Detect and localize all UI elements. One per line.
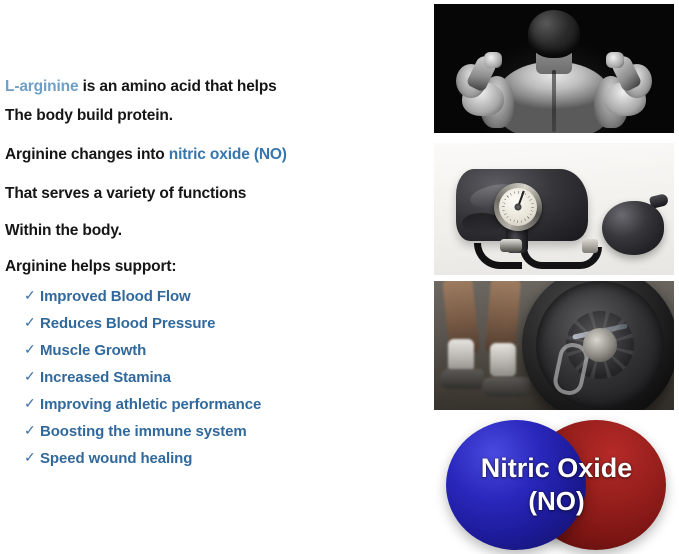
paragraph-line-4-text: That serves a variety of functions [5,185,246,202]
check-icon: ✓ [24,396,40,410]
barbell-weight-plate-photo [434,281,674,410]
list-item: ✓ Increased Stamina [24,369,261,396]
list-item: ✓ Boosting the immune system [24,423,261,450]
inflation-bulb [602,201,664,255]
list-item: ✓ Reduces Blood Pressure [24,315,261,342]
list-item-label: Boosting the immune system [40,423,247,440]
nitric-oxide-line-2: (NO) [528,486,584,517]
check-icon: ✓ [24,342,40,356]
paragraph-line-5: Within the body. [5,222,122,240]
paragraph-line-6: Arginine helps support: [5,258,176,276]
list-item-label: Reduces Blood Pressure [40,315,215,332]
weight-plate-hub [583,328,617,362]
image-column: Nitric Oxide (NO) [434,0,679,554]
check-icon: ✓ [24,315,40,329]
infographic-slide: L-arginine is an amino acid that helps T… [0,0,679,554]
paragraph-line-1-rest: is an amino acid that helps [78,78,276,95]
paragraph-line-5-text: Within the body. [5,222,122,239]
list-item: ✓ Improved Blood Flow [24,288,261,315]
nitric-oxide-line-1: Nitric Oxide [481,453,633,484]
head [528,10,580,58]
paragraph-line-1: L-arginine is an amino acid that helps [5,78,277,96]
list-item-label: Improved Blood Flow [40,288,191,305]
tube-connector [582,239,598,253]
paragraph-line-4: That serves a variety of functions [5,185,246,203]
arm-right [608,56,652,122]
lifter-shoe-left [440,369,484,389]
list-item-label: Increased Stamina [40,369,171,386]
nitric-oxide-highlight: nitric oxide (NO) [169,146,287,163]
nitric-oxide-label: Nitric Oxide (NO) [434,420,679,550]
paragraph-line-3-lead: Arginine changes into [5,146,169,163]
paragraph-line-2: The body build protein. [5,107,173,125]
list-item: ✓ Speed wound healing [24,450,261,477]
paragraph-line-6-text: Arginine helps support: [5,258,176,275]
l-arginine-highlight: L-arginine [5,78,78,95]
list-item-label: Muscle Growth [40,342,146,359]
spine-shadow [552,70,556,132]
cuff-valve-chrome [500,239,522,252]
gauge-hub [515,204,522,211]
check-icon: ✓ [24,450,40,464]
arm-left [456,56,500,122]
list-item-label: Improving athletic performance [40,396,261,413]
lifter-sock-right [490,343,516,377]
weight-plate [522,281,674,410]
list-item: ✓ Improving athletic performance [24,396,261,423]
nitric-oxide-molecule-graphic: Nitric Oxide (NO) [434,420,679,550]
muscular-back-photo [434,4,674,133]
list-item: ✓ Muscle Growth [24,342,261,369]
paragraph-line-2-text: The body build protein. [5,107,173,124]
fist-right [606,52,624,68]
check-icon: ✓ [24,423,40,437]
benefits-list: ✓ Improved Blood Flow ✓ Reduces Blood Pr… [24,288,261,477]
fist-left [484,52,502,68]
pressure-gauge [494,183,542,231]
blood-pressure-cuff-photo [434,143,674,275]
lifter-shoe-right [482,377,530,397]
text-column: L-arginine is an amino acid that helps T… [0,0,434,554]
check-icon: ✓ [24,369,40,383]
lifter-sock-left [448,339,474,373]
check-icon: ✓ [24,288,40,302]
paragraph-line-3: Arginine changes into nitric oxide (NO) [5,146,287,164]
list-item-label: Speed wound healing [40,450,192,467]
